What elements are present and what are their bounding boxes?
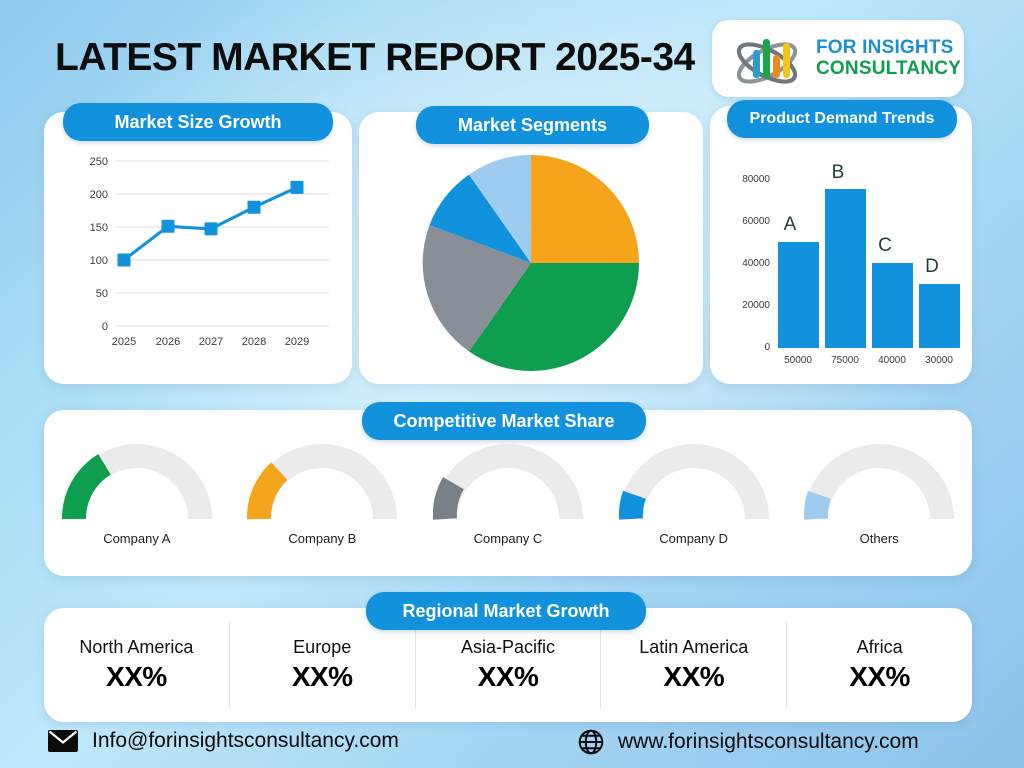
- regional-value: XX%: [106, 661, 167, 693]
- regional-name: Africa: [857, 637, 903, 658]
- company-logo[interactable]: FOR INSIGHTS CONSULTANCY: [712, 20, 964, 97]
- gauge-arc-company-a: [62, 444, 212, 522]
- gauge-arc-company-d: [619, 444, 769, 522]
- svg-text:2029: 2029: [285, 336, 309, 348]
- market-segments-pie-chart: [420, 152, 642, 374]
- svg-text:40000: 40000: [742, 258, 770, 269]
- market-size-growth-title: Market Size Growth: [63, 103, 333, 141]
- pie-slice-1: [531, 155, 639, 263]
- bar-label-a: A: [784, 214, 797, 235]
- globe-icon: [578, 729, 604, 755]
- bar-label-b: B: [832, 162, 845, 183]
- product-demand-trends-chart: 80000 60000 40000 20000 0 A B C D 50000 …: [710, 148, 972, 378]
- product-demand-trends-title: Product Demand Trends: [727, 100, 957, 138]
- regional-value: XX%: [849, 661, 910, 693]
- footer-website-text: www.forinsightsconsultancy.com: [618, 730, 919, 754]
- svg-text:30000: 30000: [925, 355, 953, 366]
- svg-text:200: 200: [90, 189, 108, 201]
- logo-line-2: CONSULTANCY: [816, 59, 961, 79]
- svg-text:60000: 60000: [742, 216, 770, 227]
- page-header: LATEST MARKET REPORT 2025-34 FOR INSIGHT…: [0, 0, 1024, 104]
- logo-line-1: FOR INSIGHTS: [816, 38, 961, 58]
- page-footer: Info@forinsightsconsultancy.com www.fori…: [0, 726, 1024, 768]
- regional-cell-north-america: North America XX%: [44, 622, 230, 708]
- gauge-label-others: Others: [860, 531, 899, 546]
- regional-cell-europe: Europe XX%: [230, 622, 416, 708]
- gauge-arc-company-b: [247, 444, 397, 522]
- regional-name: Asia-Pacific: [461, 637, 555, 658]
- svg-text:80000: 80000: [742, 174, 770, 185]
- bar-a: [778, 242, 819, 348]
- svg-text:0: 0: [764, 342, 770, 353]
- regional-value: XX%: [292, 661, 353, 693]
- footer-website[interactable]: www.forinsightsconsultancy.com: [578, 729, 919, 755]
- bar-label-c: C: [878, 235, 892, 256]
- regional-cell-latin-america: Latin America XX%: [601, 622, 787, 708]
- bar-c: [872, 263, 913, 348]
- gauge-others: Others: [794, 444, 964, 546]
- gauge-label-company-b: Company B: [288, 531, 356, 546]
- svg-text:250: 250: [90, 156, 108, 168]
- gauge-row: Company A Company B Company C Company D …: [44, 444, 972, 564]
- bar-chart-orbit-logo-icon: [726, 29, 808, 89]
- page-title: LATEST MARKET REPORT 2025-34: [55, 36, 695, 80]
- svg-text:20000: 20000: [742, 300, 770, 311]
- regional-name: Europe: [293, 637, 351, 658]
- market-size-growth-chart: 250 200 150 100 50 0 2025 2026 2027 2028…: [44, 146, 352, 381]
- bar-label-d: D: [925, 256, 939, 277]
- regional-value: XX%: [478, 661, 539, 693]
- footer-email-text: Info@forinsightsconsultancy.com: [92, 729, 399, 753]
- svg-text:75000: 75000: [831, 355, 859, 366]
- regional-cell-asia-pacific: Asia-Pacific XX%: [416, 622, 602, 708]
- gauge-arc-company-c: [433, 444, 583, 522]
- gauge-company-c: Company C: [423, 444, 593, 546]
- svg-text:50000: 50000: [784, 355, 812, 366]
- gauge-arc-others: [804, 444, 954, 522]
- bar-d: [919, 284, 960, 348]
- svg-text:2028: 2028: [242, 336, 266, 348]
- regional-name: North America: [79, 637, 193, 658]
- svg-text:0: 0: [102, 321, 108, 333]
- envelope-icon: [48, 730, 78, 752]
- svg-text:150: 150: [90, 222, 108, 234]
- regional-market-growth-title: Regional Market Growth: [366, 592, 646, 630]
- svg-text:50: 50: [96, 288, 108, 300]
- gauge-label-company-c: Company C: [474, 531, 543, 546]
- gauge-company-d: Company D: [609, 444, 779, 546]
- gauge-company-b: Company B: [237, 444, 407, 546]
- regional-value: XX%: [663, 661, 724, 693]
- gauge-label-company-a: Company A: [103, 531, 170, 546]
- bar-b: [825, 189, 866, 348]
- svg-text:2027: 2027: [199, 336, 223, 348]
- logo-wordmark: FOR INSIGHTS CONSULTANCY: [816, 38, 961, 78]
- svg-text:40000: 40000: [878, 355, 906, 366]
- regional-cell-africa: Africa XX%: [787, 622, 972, 708]
- svg-text:100: 100: [90, 255, 108, 267]
- svg-text:2026: 2026: [156, 336, 180, 348]
- footer-email[interactable]: Info@forinsightsconsultancy.com: [48, 729, 399, 753]
- competitive-market-share-title: Competitive Market Share: [362, 402, 646, 440]
- svg-text:2025: 2025: [112, 336, 136, 348]
- market-segments-title: Market Segments: [416, 106, 649, 144]
- regional-name: Latin America: [639, 637, 748, 658]
- gauge-label-company-d: Company D: [659, 531, 728, 546]
- gauge-company-a: Company A: [52, 444, 222, 546]
